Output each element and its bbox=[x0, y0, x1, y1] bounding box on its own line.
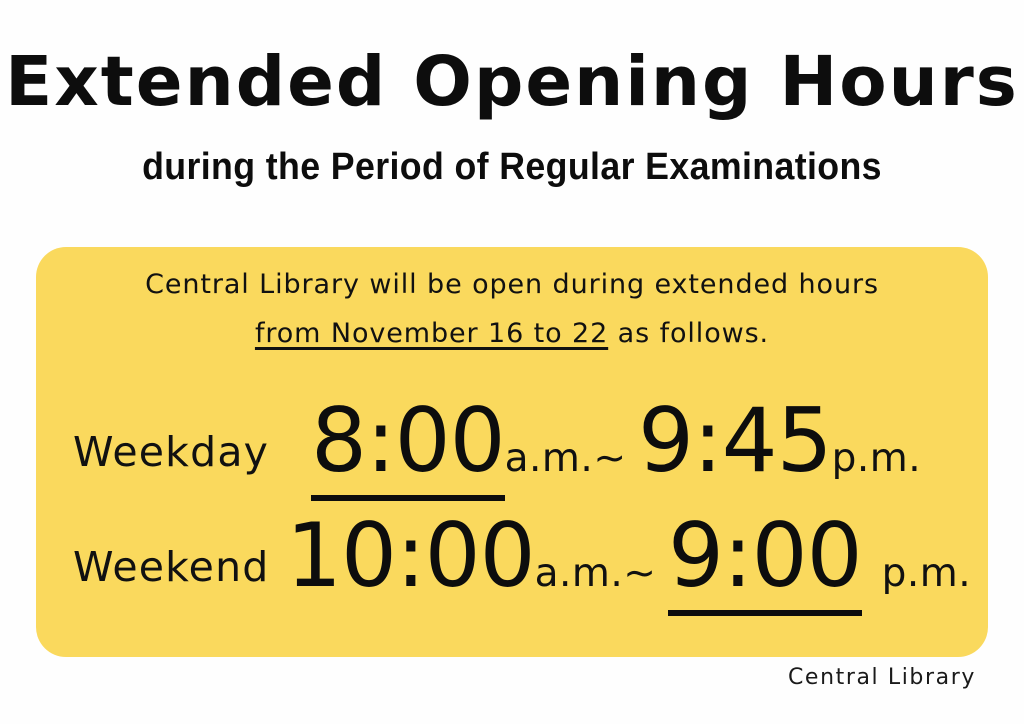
footer-attribution: Central Library bbox=[788, 665, 976, 690]
hours-row-times-weekend: 10:00a.m.~9:00p.m. bbox=[286, 512, 971, 600]
hours-row-weekday: Weekday 8:00a.m.~9:45p.m. bbox=[36, 382, 988, 497]
hours-table: Weekday 8:00a.m.~9:45p.m. Weekend 10:00a… bbox=[36, 382, 988, 612]
poster-header: Extended Opening Hours during the Period… bbox=[0, 48, 1024, 186]
hours-row-weekend: Weekend 10:00a.m.~9:00p.m. bbox=[36, 497, 988, 612]
weekend-open-meridiem: a.m. bbox=[535, 551, 624, 596]
hours-row-label-weekend: Weekend bbox=[73, 547, 270, 588]
weekday-close-meridiem: p.m. bbox=[832, 436, 922, 481]
hours-panel: Central Library will be open during exte… bbox=[36, 247, 988, 657]
poster-canvas: Extended Opening Hours during the Period… bbox=[0, 0, 1024, 724]
panel-intro-text: Central Library will be open during exte… bbox=[36, 271, 988, 347]
hours-row-times-weekday: 8:00a.m.~9:45p.m. bbox=[311, 397, 921, 485]
weekend-open-time: 10:00 bbox=[286, 504, 535, 607]
intro-line-2-tail: as follows. bbox=[608, 318, 769, 349]
weekend-close-time: 9:00 bbox=[668, 504, 862, 616]
page-title: Extended Opening Hours bbox=[0, 48, 1024, 117]
weekday-time-separator: ~ bbox=[593, 436, 626, 481]
weekday-close-time: 9:45 bbox=[638, 389, 832, 492]
weekend-time-separator: ~ bbox=[623, 551, 656, 596]
intro-line-2: from November 16 to 22 as follows. bbox=[36, 298, 988, 347]
weekend-close-meridiem: p.m. bbox=[882, 551, 972, 596]
weekday-open-time: 8:00 bbox=[311, 389, 505, 501]
hours-row-label-weekday: Weekday bbox=[73, 432, 269, 473]
date-range-highlight: from November 16 to 22 bbox=[255, 318, 608, 349]
page-subtitle: during the Period of Regular Examination… bbox=[31, 117, 994, 186]
intro-line-1: Central Library will be open during exte… bbox=[36, 271, 988, 298]
weekday-open-meridiem: a.m. bbox=[505, 436, 594, 481]
